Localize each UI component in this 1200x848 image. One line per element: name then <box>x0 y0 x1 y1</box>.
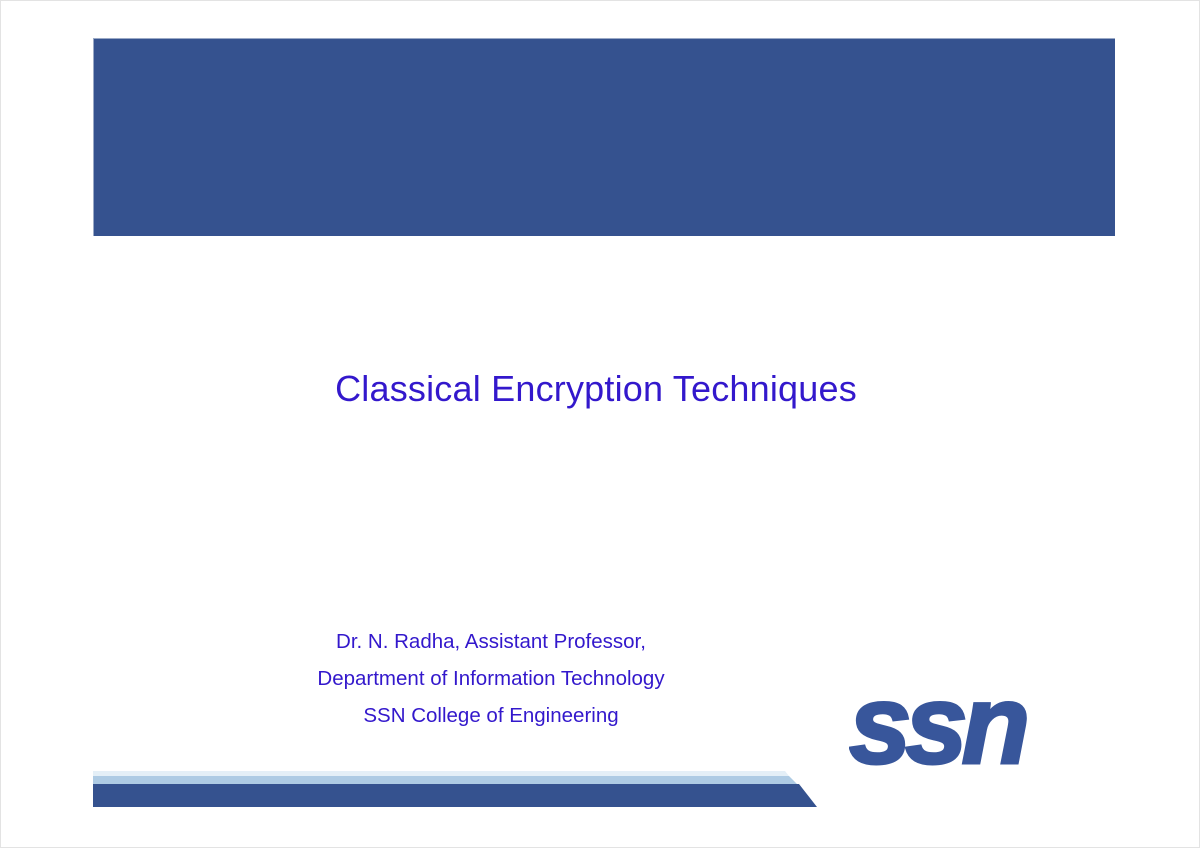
presentation-slide: Classical Encryption Techniques Dr. N. R… <box>0 0 1200 848</box>
ssn-logo-wordmark: ssn <box>849 667 1026 787</box>
footer-bar-light <box>93 776 797 784</box>
author-line-name: Dr. N. Radha, Assistant Professor, <box>1 623 981 660</box>
footer-bar-highlight <box>93 771 789 776</box>
footer-bar-dark <box>93 784 817 807</box>
ssn-logo-icon: ssn <box>849 667 1089 787</box>
author-line-institution: SSN College of Engineering <box>1 697 981 734</box>
header-band <box>93 38 1115 236</box>
title-block: Classical Encryption Techniques <box>1 367 1191 411</box>
author-line-department: Department of Information Technology <box>1 660 981 697</box>
footer-decoration <box>93 769 817 809</box>
author-block: Dr. N. Radha, Assistant Professor, Depar… <box>1 623 981 734</box>
page-title: Classical Encryption Techniques <box>335 367 857 411</box>
ssn-logo: ssn <box>849 667 1089 787</box>
